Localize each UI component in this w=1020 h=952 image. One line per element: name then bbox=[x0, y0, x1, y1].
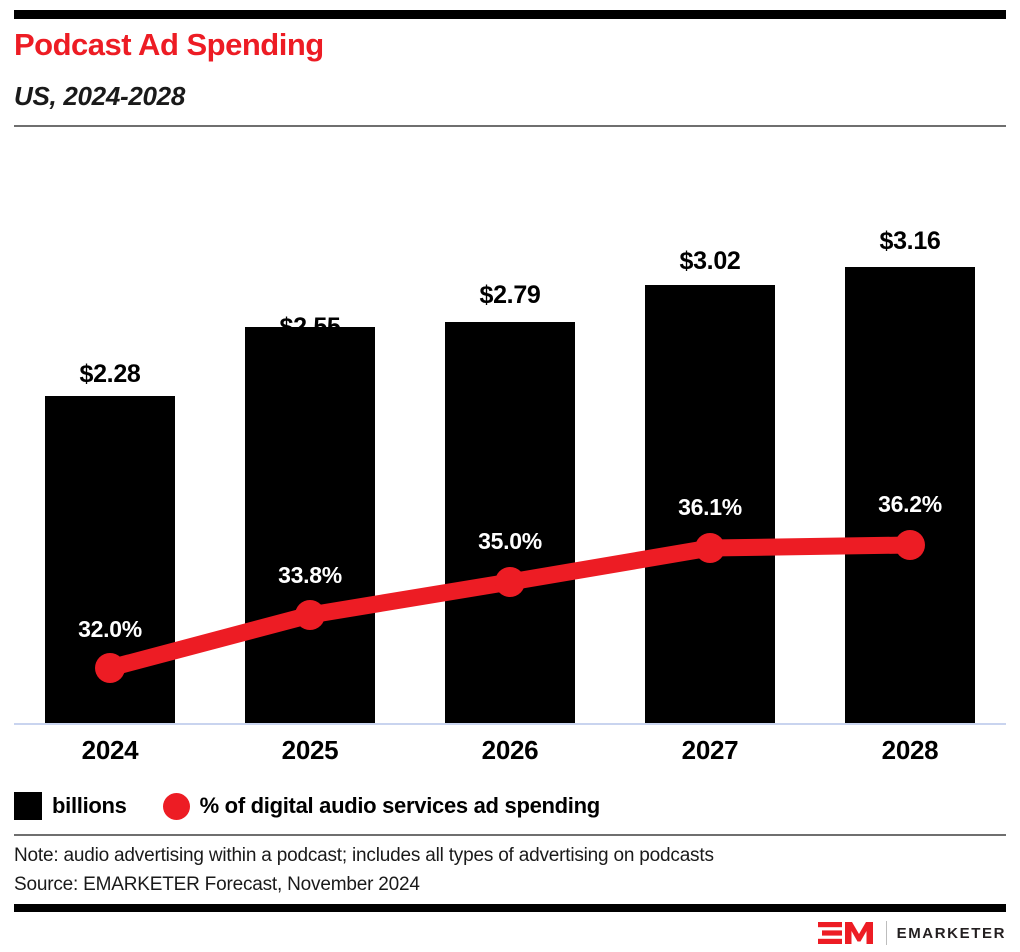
emarketer-logo: EMARKETER bbox=[818, 920, 1006, 946]
legend-item-billions: billions bbox=[14, 792, 127, 820]
legend-label-billions: billions bbox=[52, 793, 127, 819]
logo-wordmark: EMARKETER bbox=[897, 925, 1006, 942]
chart-page: Podcast Ad Spending US, 2024-2028 $2.28 … bbox=[0, 0, 1020, 952]
pct-value-label-2025: 33.8% bbox=[245, 562, 375, 589]
legend-divider bbox=[14, 834, 1006, 836]
x-axis-line bbox=[14, 723, 1006, 725]
pct-value-label-2024: 32.0% bbox=[45, 616, 175, 643]
bar-value-label-2027: $3.02 bbox=[645, 247, 775, 276]
pct-value-label-2027: 36.1% bbox=[645, 494, 775, 521]
bar-value-label-2028: $3.16 bbox=[845, 227, 975, 256]
bar-value-label-2025: $2.55 bbox=[245, 313, 375, 342]
pct-value-label-2028: 36.2% bbox=[845, 491, 975, 518]
logo-divider bbox=[886, 921, 887, 945]
legend-square-icon bbox=[14, 792, 42, 820]
x-tick-2025: 2025 bbox=[245, 735, 375, 766]
emarketer-mark-icon bbox=[818, 920, 876, 946]
x-tick-2024: 2024 bbox=[45, 735, 175, 766]
legend-label-percent: % of digital audio services ad spending bbox=[200, 793, 600, 819]
bottom-rule bbox=[14, 904, 1006, 912]
pct-value-label-2026: 35.0% bbox=[445, 528, 575, 555]
bar-value-label-2024: $2.28 bbox=[45, 360, 175, 389]
bar-2025 bbox=[245, 327, 375, 724]
x-tick-2027: 2027 bbox=[645, 735, 775, 766]
x-tick-2026: 2026 bbox=[445, 735, 575, 766]
legend-item-percent: % of digital audio services ad spending bbox=[163, 793, 600, 820]
chart-note: Note: audio advertising within a podcast… bbox=[14, 845, 714, 867]
bar-value-label-2026: $2.79 bbox=[445, 281, 575, 310]
bar-2026 bbox=[445, 322, 575, 724]
chart-legend: billions % of digital audio services ad … bbox=[14, 790, 636, 822]
chart-source: Source: EMARKETER Forecast, November 202… bbox=[14, 874, 420, 896]
x-tick-2028: 2028 bbox=[845, 735, 975, 766]
bar-2024 bbox=[45, 396, 175, 724]
legend-circle-icon bbox=[163, 793, 190, 820]
